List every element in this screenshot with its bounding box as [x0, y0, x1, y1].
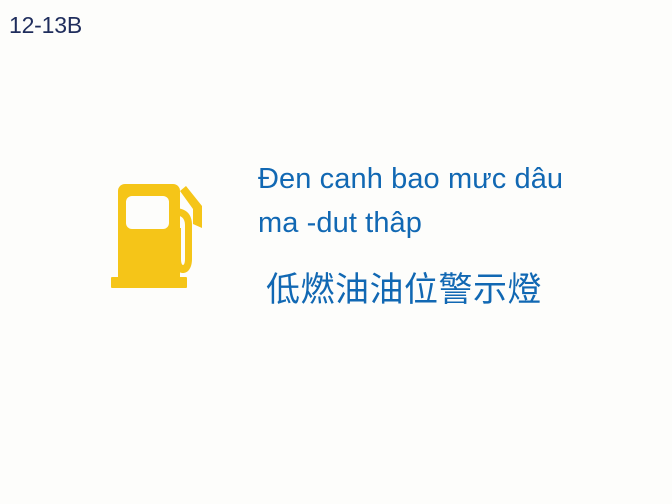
- caption-vietnamese-line-1: Đen canh bao mưc dâu: [258, 157, 662, 201]
- fuel-pump-icon: [110, 178, 210, 298]
- caption-chinese: 低燃油油位警示燈: [266, 267, 662, 313]
- slide-canvas: 12-13B Đen canh bao mưc dâu: [0, 0, 672, 504]
- caption-text-block: Đen canh bao mưc dâu ma -dut thâp 低燃油油位警…: [258, 148, 662, 313]
- section-code-label: 12-13B: [9, 13, 82, 39]
- caption-vietnamese-line-2: ma -dut thâp: [258, 201, 662, 245]
- content-row: Đen canh bao mưc dâu ma -dut thâp 低燃油油位警…: [0, 148, 672, 348]
